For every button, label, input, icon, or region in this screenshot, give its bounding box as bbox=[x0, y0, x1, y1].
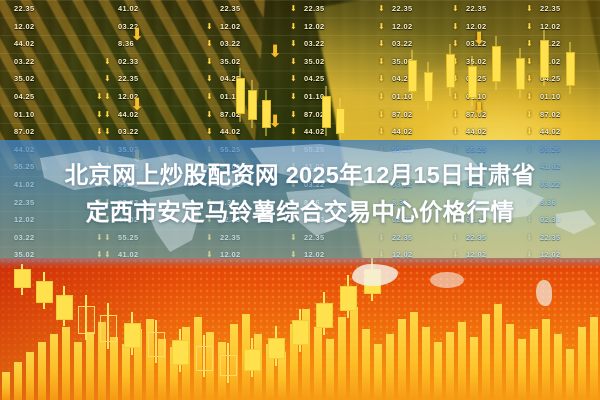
volume-bar bbox=[470, 337, 477, 400]
bottom-chart bbox=[0, 258, 600, 400]
price-value: 03.22 bbox=[14, 53, 35, 71]
price-value: 04.25 bbox=[14, 88, 35, 106]
volume-bar bbox=[518, 339, 525, 400]
down-arrow-icon: ⬇ bbox=[526, 53, 533, 71]
large-down-arrow-icon: ⬇ bbox=[472, 100, 486, 117]
volume-bar bbox=[26, 352, 33, 400]
down-arrow-icon: ⬇ bbox=[104, 53, 111, 71]
price-value: 41.02 bbox=[118, 0, 139, 18]
candlestick bbox=[148, 320, 163, 363]
candlestick bbox=[172, 329, 187, 372]
volume-bar bbox=[362, 329, 369, 400]
price-value: 22.35 bbox=[118, 70, 139, 88]
down-arrow-icon: ⬇ bbox=[290, 0, 297, 18]
page-title: 北京网上炒股配资网 2025年12月15日甘肃省 定西市安定马铃薯综合交易中心价… bbox=[0, 157, 600, 231]
down-arrow-icon: ⬇ bbox=[526, 88, 533, 106]
candlestick bbox=[36, 272, 51, 309]
price-value: 22.35 bbox=[220, 0, 241, 18]
down-arrow-icon: ⬇ bbox=[96, 106, 103, 124]
down-arrow-icon: ⬇ bbox=[104, 70, 111, 88]
candlestick bbox=[196, 335, 211, 378]
candlestick bbox=[14, 264, 29, 295]
down-arrow-icon: ⬇ bbox=[290, 106, 297, 124]
volume-bar bbox=[566, 349, 573, 400]
volume-bar bbox=[374, 344, 381, 400]
candlestick bbox=[220, 343, 235, 383]
price-value: 44.02 bbox=[14, 35, 35, 53]
price-value: 44.02 bbox=[392, 123, 413, 141]
volume-bar bbox=[530, 329, 537, 400]
down-arrow-icon: ⬇ bbox=[290, 123, 297, 141]
candlestick bbox=[236, 68, 243, 122]
down-arrow-icon bbox=[96, 18, 103, 36]
down-arrow-icon bbox=[104, 18, 111, 36]
down-arrow-icon: ⬇ bbox=[452, 123, 459, 141]
down-arrow-icon: ⬇ bbox=[526, 0, 533, 18]
volume-bar bbox=[446, 332, 453, 400]
volume-bar bbox=[410, 312, 417, 400]
down-arrow-icon: ⬇ bbox=[378, 70, 385, 88]
candlestick bbox=[336, 98, 343, 142]
map-fragment-2 bbox=[430, 272, 464, 288]
candlestick bbox=[292, 309, 307, 352]
candlestick bbox=[100, 303, 115, 348]
down-arrow-icon: ⬇ bbox=[290, 70, 297, 88]
volume-bar bbox=[86, 332, 93, 400]
price-value: 35.02 bbox=[304, 53, 325, 71]
candlestick bbox=[56, 286, 71, 326]
down-arrow-icon: ⬇ bbox=[290, 35, 297, 53]
volume-bar bbox=[386, 334, 393, 400]
large-down-arrow-icon: ⬇ bbox=[472, 30, 486, 47]
down-arrow-icon: ⬇ bbox=[378, 18, 385, 36]
title-line-1: 北京网上炒股配资网 2025年12月15日甘肃省 bbox=[0, 157, 600, 194]
down-arrow-icon: ⬇ bbox=[206, 123, 213, 141]
volume-bar bbox=[458, 322, 465, 400]
down-arrow-icon bbox=[96, 53, 103, 71]
price-value: 22.35 bbox=[540, 0, 561, 18]
volume-bar bbox=[506, 324, 513, 400]
volume-bar bbox=[326, 339, 333, 400]
price-value: 44.02 bbox=[540, 123, 561, 141]
large-down-arrow-icon: ⬇ bbox=[130, 26, 144, 43]
down-arrow-icon: ⬇ bbox=[104, 123, 111, 141]
price-value: 12.02 bbox=[304, 18, 325, 36]
price-value: 35.02 bbox=[14, 70, 35, 88]
down-arrow-icon: ⬇ bbox=[526, 18, 533, 36]
down-arrow-icon: ⬇ bbox=[452, 18, 459, 36]
down-arrow-icon: ⬇ bbox=[290, 88, 297, 106]
down-arrow-icon: ⬇ bbox=[206, 18, 213, 36]
down-arrow-icon: ⬇ bbox=[206, 70, 213, 88]
down-arrow-icon: ⬇ bbox=[378, 0, 385, 18]
volume-bar bbox=[74, 342, 81, 400]
candlestick bbox=[340, 275, 355, 318]
volume-bar bbox=[434, 342, 441, 400]
candlestick bbox=[322, 86, 329, 136]
price-value: 03.22 bbox=[118, 123, 139, 141]
volume-bar bbox=[398, 319, 405, 400]
volume-bar bbox=[2, 372, 9, 400]
down-arrow-icon: ⬇ bbox=[96, 88, 103, 106]
down-arrow-icon: ⬇ bbox=[290, 18, 297, 36]
down-arrow-icon: ⬇ bbox=[206, 88, 213, 106]
down-arrow-icon bbox=[96, 0, 103, 18]
down-arrow-icon: ⬇ bbox=[290, 53, 297, 71]
down-arrow-icon: ⬇ bbox=[378, 106, 385, 124]
volume-bar bbox=[554, 334, 561, 400]
down-arrow-icon: ⬇ bbox=[104, 88, 111, 106]
price-value: 87.02 bbox=[14, 123, 35, 141]
price-value: 22.35 bbox=[466, 0, 487, 18]
volume-bar bbox=[314, 327, 321, 400]
candlestick bbox=[540, 30, 547, 86]
down-arrow-icon bbox=[104, 0, 111, 18]
down-arrow-icon: ⬇ bbox=[206, 35, 213, 53]
price-value: 44.02 bbox=[220, 123, 241, 141]
volume-bar bbox=[482, 314, 489, 400]
down-arrow-icon: ⬇ bbox=[452, 106, 459, 124]
candlestick bbox=[124, 312, 139, 355]
title-line-2: 定西市安定马铃薯综合交易中心价格行情 bbox=[0, 194, 600, 231]
price-value: 44.02 bbox=[466, 123, 487, 141]
volume-bar bbox=[590, 317, 597, 400]
price-value: 22.35 bbox=[14, 0, 35, 18]
down-arrow-icon: ⬇ bbox=[378, 88, 385, 106]
band-fade-edge bbox=[0, 258, 600, 268]
down-arrow-icon: ⬇ bbox=[526, 70, 533, 88]
price-value: 12.02 bbox=[14, 18, 35, 36]
price-value: 12.02 bbox=[220, 18, 241, 36]
volume-bar bbox=[38, 342, 45, 400]
down-arrow-icon: ⬇ bbox=[96, 123, 103, 141]
candlestick bbox=[316, 292, 331, 335]
stock-market-banner-image: 22.3512.0244.0203.2235.0204.2501.1087.02… bbox=[0, 0, 600, 400]
volume-bar bbox=[14, 362, 21, 400]
candlestick bbox=[424, 62, 431, 110]
volume-bar bbox=[422, 327, 429, 400]
price-value: 01.10 bbox=[540, 88, 561, 106]
down-arrow-icon bbox=[206, 0, 213, 18]
down-arrow-icon: ⬇ bbox=[452, 88, 459, 106]
candlestick bbox=[78, 295, 93, 340]
candlestick bbox=[248, 80, 255, 128]
down-arrow-icon: ⬇ bbox=[526, 35, 533, 53]
candlestick bbox=[492, 36, 499, 90]
candlestick bbox=[516, 48, 523, 98]
down-arrow-icon bbox=[96, 35, 103, 53]
candlestick bbox=[408, 50, 415, 100]
candlestick bbox=[268, 326, 283, 366]
large-down-arrow-icon: ⬇ bbox=[130, 96, 144, 113]
down-arrow-icon: ⬇ bbox=[378, 35, 385, 53]
volume-bar bbox=[338, 317, 345, 400]
candlestick bbox=[446, 44, 453, 96]
price-value: 03.22 bbox=[220, 35, 241, 53]
volume-bar bbox=[578, 327, 585, 400]
down-arrow-icon: ⬇ bbox=[526, 123, 533, 141]
map-fragment-3 bbox=[536, 280, 552, 306]
large-down-arrow-icon: ⬇ bbox=[268, 113, 282, 130]
price-value: 22.35 bbox=[392, 0, 413, 18]
candlestick bbox=[244, 338, 259, 378]
volume-bar bbox=[494, 304, 501, 400]
down-arrow-icon: ⬇ bbox=[206, 106, 213, 124]
price-value: 22.35 bbox=[304, 0, 325, 18]
price-value: 87.02 bbox=[540, 106, 561, 124]
down-arrow-icon: ⬇ bbox=[104, 106, 111, 124]
down-arrow-icon: ⬇ bbox=[452, 0, 459, 18]
price-value: 87.02 bbox=[392, 106, 413, 124]
volume-bar bbox=[50, 334, 57, 400]
down-arrow-icon bbox=[96, 70, 103, 88]
price-value: 12.02 bbox=[392, 18, 413, 36]
candlestick bbox=[566, 42, 573, 94]
volume-bar bbox=[62, 327, 69, 400]
down-arrow-icon bbox=[104, 35, 111, 53]
down-arrow-icon: ⬇ bbox=[452, 35, 459, 53]
price-value: 01.10 bbox=[14, 106, 35, 124]
large-down-arrow-icon: ⬇ bbox=[268, 43, 282, 60]
down-arrow-icon: ⬇ bbox=[526, 106, 533, 124]
down-arrow-icon: ⬇ bbox=[206, 53, 213, 71]
volume-bar bbox=[542, 319, 549, 400]
down-arrow-icon: ⬇ bbox=[378, 123, 385, 141]
price-value: 02.33 bbox=[118, 53, 139, 71]
price-value: 03.22 bbox=[304, 35, 325, 53]
volume-bar bbox=[350, 307, 357, 400]
down-arrow-icon: ⬇ bbox=[378, 53, 385, 71]
